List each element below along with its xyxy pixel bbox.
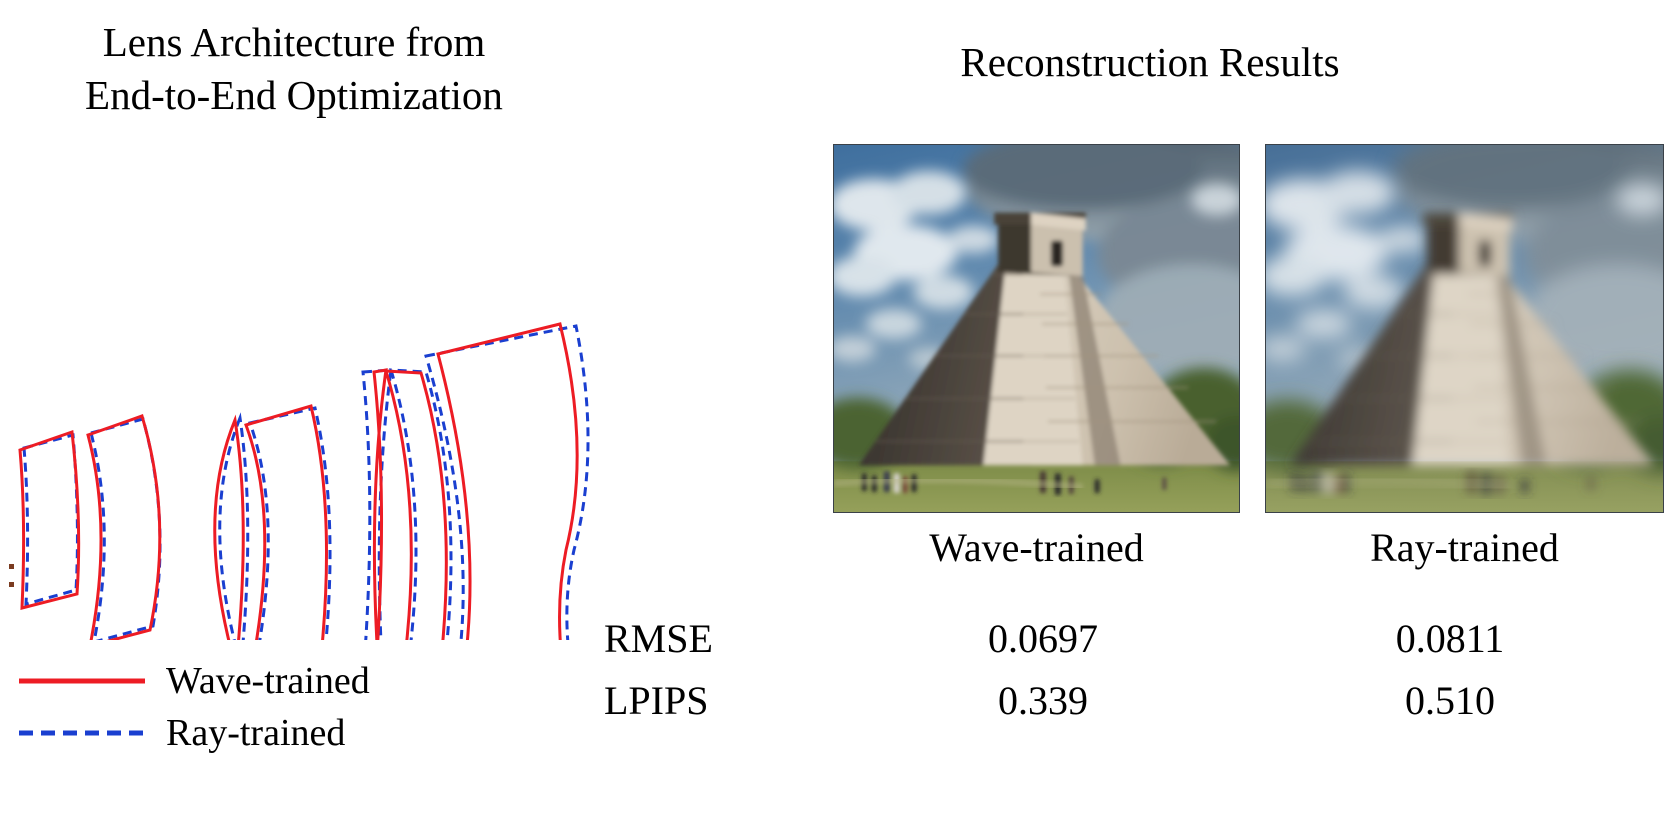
lens-element-1-ray bbox=[24, 435, 77, 604]
reconstruction-image-wave-trained bbox=[833, 144, 1240, 513]
reconstruction-image-ray-trained bbox=[1265, 144, 1664, 513]
metric-value-lpips-wave: 0.339 bbox=[836, 681, 1250, 721]
optical-axis-tick-lower bbox=[9, 582, 14, 587]
table-row: LPIPS 0.339 0.510 bbox=[600, 670, 1664, 732]
legend-label-ray-trained: Ray-trained bbox=[166, 714, 345, 752]
caption-wave-trained: Wave-trained bbox=[833, 528, 1240, 568]
legend-label-wave-trained: Wave-trained bbox=[166, 662, 370, 700]
lens-architecture-diagram bbox=[0, 120, 620, 640]
right-panel-title: Reconstruction Results bbox=[900, 36, 1400, 89]
lens-element-6-wave bbox=[386, 371, 446, 640]
lens-element-2-wave bbox=[88, 416, 160, 640]
metric-value-rmse-wave: 0.0697 bbox=[836, 619, 1250, 659]
legend-item-wave-trained: Wave-trained bbox=[18, 655, 438, 707]
metric-value-lpips-ray: 0.510 bbox=[1250, 681, 1650, 721]
metrics-table: RMSE 0.0697 0.0811 LPIPS 0.339 0.510 bbox=[600, 608, 1664, 732]
lens-element-7-wave bbox=[438, 324, 580, 640]
lens-element-1-wave bbox=[20, 432, 79, 608]
table-row: RMSE 0.0697 0.0811 bbox=[600, 608, 1664, 670]
lens-element-4-wave bbox=[245, 406, 327, 640]
metric-label-rmse: RMSE bbox=[600, 619, 836, 659]
legend-item-ray-trained: Ray-trained bbox=[18, 707, 438, 759]
solid-line-swatch bbox=[18, 673, 146, 689]
left-panel-title: Lens Architecture from End-to-End Optimi… bbox=[24, 16, 564, 123]
figure-root: Lens Architecture from End-to-End Optimi… bbox=[0, 0, 1664, 820]
metric-value-rmse-ray: 0.0811 bbox=[1250, 619, 1650, 659]
lens-element-7-ray bbox=[426, 326, 590, 640]
metric-label-lpips: LPIPS bbox=[600, 681, 836, 721]
caption-ray-trained: Ray-trained bbox=[1265, 528, 1664, 568]
lens-element-5-wave bbox=[372, 370, 386, 640]
optical-axis-tick-upper bbox=[9, 564, 14, 569]
dashed-line-swatch bbox=[18, 725, 146, 741]
lens-legend: Wave-trained Ray-trained bbox=[18, 655, 438, 759]
